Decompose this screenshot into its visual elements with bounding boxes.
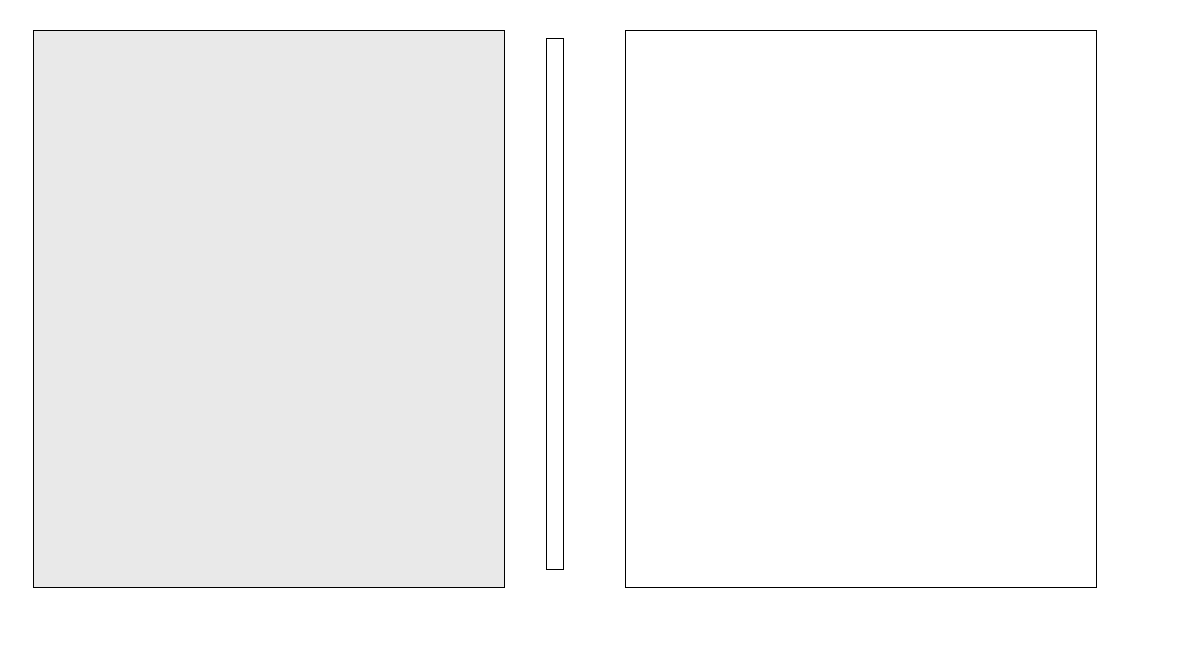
concentration-colorbar bbox=[546, 38, 564, 570]
map-outlines-left bbox=[34, 31, 504, 587]
map-outlines-right bbox=[626, 31, 1096, 587]
left-footer bbox=[0, 628, 530, 630]
right-footer bbox=[592, 628, 1122, 630]
panel-bias bbox=[600, 0, 1200, 672]
bias-map bbox=[625, 30, 1097, 588]
figure-canvas bbox=[0, 0, 1200, 672]
concentration-map bbox=[33, 30, 505, 588]
panel-concentration bbox=[0, 0, 600, 672]
